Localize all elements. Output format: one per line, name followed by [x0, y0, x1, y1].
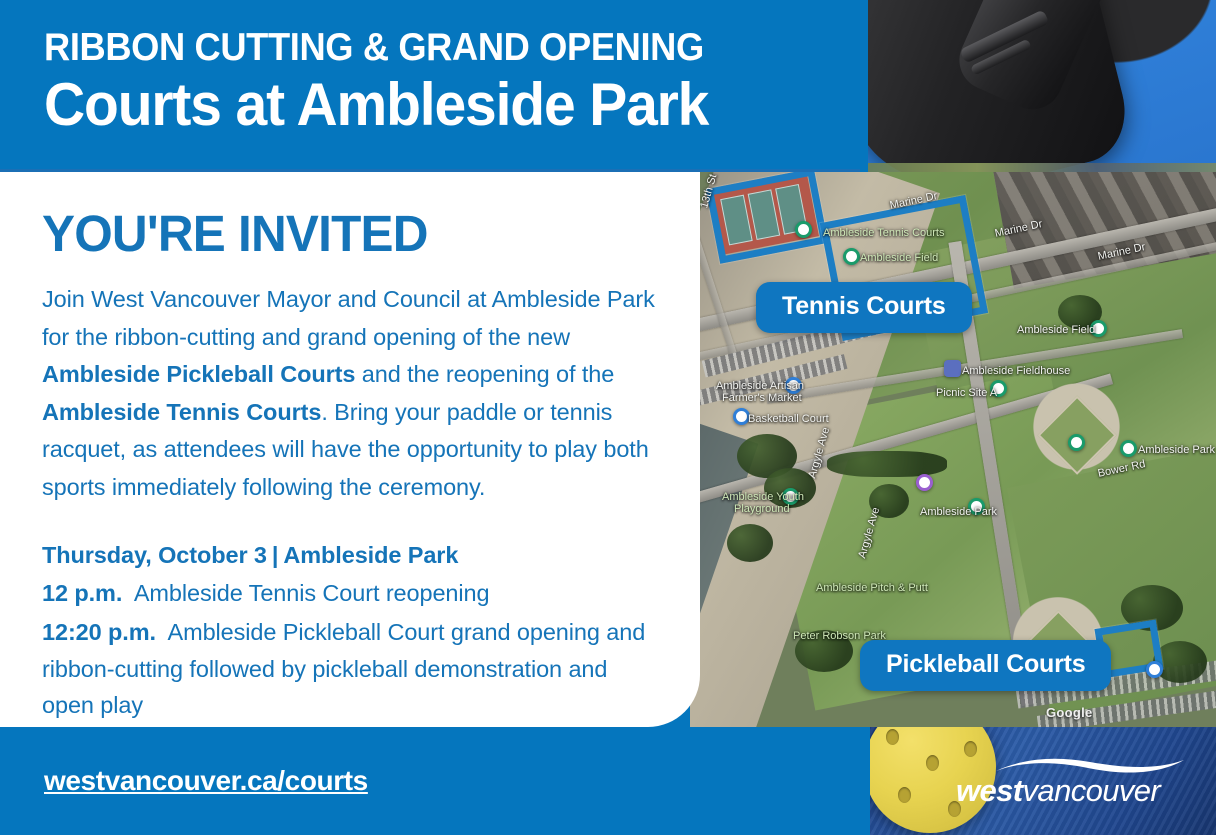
event-date: Thursday, October 3 [42, 542, 267, 568]
map-poi-ambleside-field-north[interactable] [843, 248, 860, 265]
map-poi-fieldhouse[interactable] [944, 360, 961, 377]
poster: RIBBON CUTTING & GRAND OPENING Courts at… [0, 0, 1216, 835]
body-part-2: and the reopening of the [355, 361, 614, 387]
logo-wordmark: westvancouver [956, 773, 1160, 809]
body-bold-tennis: Ambleside Tennis Courts [42, 399, 321, 425]
event-location: Ambleside Park [283, 542, 458, 568]
ambleside-park-aerial-map[interactable]: 13th St Marine Dr Marine Dr Marine Dr Am… [690, 172, 1216, 730]
west-vancouver-logo[interactable]: westvancouver [956, 759, 1194, 817]
map-poi-tennis-courts[interactable] [795, 221, 812, 238]
map-poi-pickleball[interactable] [1146, 661, 1163, 678]
body-bold-pickleball: Ambleside Pickleball Courts [42, 361, 355, 387]
header-kicker: RIBBON CUTTING & GRAND OPENING [44, 28, 803, 69]
map-poi-ambleside-park-label[interactable] [968, 498, 985, 515]
photo-bottom-edge [858, 163, 1216, 172]
invitation-card: YOU'RE INVITED Join West Vancouver Mayor… [0, 172, 700, 727]
schedule-item: 12 p.m. Ambleside Tennis Court reopening [42, 575, 656, 612]
map-poi-minifields[interactable] [1120, 440, 1137, 457]
schedule-item: 12:20 p.m. Ambleside Pickleball Court gr… [42, 614, 656, 724]
event-date-location: Thursday, October 3|Ambleside Park [42, 537, 656, 574]
footer-bar: westvancouver.ca/courts westvancouver [0, 727, 1216, 835]
ball-hole [898, 787, 911, 803]
tree-row-mid [827, 451, 947, 477]
pickleball-ball-photo: westvancouver [858, 727, 1216, 835]
ball-hole [886, 729, 899, 745]
schedule-time: 12:20 p.m. [42, 619, 156, 645]
map-poi-minifields-2[interactable] [1068, 434, 1085, 451]
callout-tennis-courts[interactable]: Tennis Courts [756, 282, 972, 333]
map-poi-farmers-market[interactable] [785, 377, 802, 394]
ball-hole [926, 755, 939, 771]
footer-left-strip [858, 727, 870, 835]
schedule-time: 12 p.m. [42, 580, 122, 606]
ball-hole [964, 741, 977, 757]
event-details: Thursday, October 3|Ambleside Park 12 p.… [42, 537, 656, 724]
header-bar: RIBBON CUTTING & GRAND OPENING Courts at… [0, 0, 860, 172]
invitation-body: Join West Vancouver Mayor and Council at… [42, 281, 656, 507]
google-attribution: Google [1046, 705, 1093, 720]
invitation-heading: YOU'RE INVITED [42, 208, 638, 259]
body-part-1: Join West Vancouver Mayor and Council at… [42, 286, 655, 350]
map-poi-ambleside-field[interactable] [1090, 320, 1107, 337]
logo-word-vancouver: vancouver [1023, 773, 1161, 808]
map-poi-basketball-court[interactable] [733, 408, 750, 425]
pickleball-paddle-photo [858, 0, 1216, 172]
map-poi-picnic-site[interactable] [990, 380, 1007, 397]
ballfield-north [1016, 351, 1137, 474]
schedule-description: Ambleside Tennis Court reopening [134, 580, 490, 606]
tree-cluster-southwest [727, 524, 773, 562]
header-title: Courts at Ambleside Park [44, 73, 819, 138]
map-poi-ambleside-park[interactable] [916, 474, 933, 491]
event-separator: | [267, 542, 283, 568]
logo-word-west: west [956, 773, 1023, 808]
map-poi-playground[interactable] [782, 488, 799, 505]
tree-cluster-south [795, 630, 853, 672]
callout-pickleball-courts[interactable]: Pickleball Courts [860, 640, 1111, 691]
map-canvas: 13th St Marine Dr Marine Dr Marine Dr Am… [690, 172, 1216, 730]
website-url-link[interactable]: westvancouver.ca/courts [44, 765, 368, 797]
